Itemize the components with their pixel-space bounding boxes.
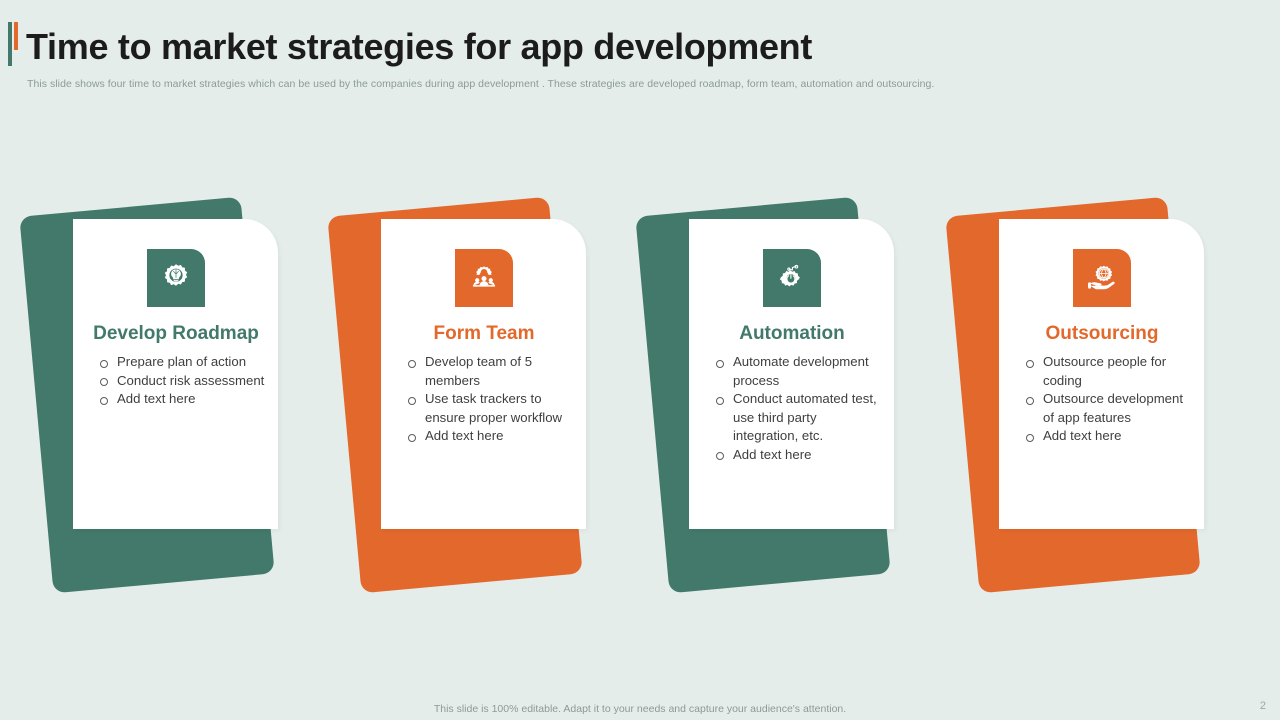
list-item: Automate development process bbox=[713, 353, 882, 390]
card-title: Outsourcing bbox=[1012, 323, 1192, 345]
list-item: Add text here bbox=[713, 446, 882, 465]
list-item: Develop team of 5 members bbox=[405, 353, 574, 390]
card-panel[interactable]: Form Team Develop team of 5 members Use … bbox=[381, 219, 586, 529]
list-item: Use task trackers to ensure proper workf… bbox=[405, 390, 574, 427]
card-panel[interactable]: Outsourcing Outsource people for coding … bbox=[999, 219, 1204, 529]
page-number: 2 bbox=[1260, 700, 1266, 712]
list-item: Add text here bbox=[405, 427, 574, 446]
card-title: Automation bbox=[702, 323, 882, 345]
card-title: Form Team bbox=[394, 323, 574, 345]
hand-holding-globe-gear-icon bbox=[1073, 249, 1131, 307]
strategy-card-develop-roadmap[interactable]: Develop Roadmap Prepare plan of action C… bbox=[22, 190, 322, 610]
card-bullet-list: Prepare plan of action Conduct risk asse… bbox=[86, 353, 266, 409]
list-item: Outsource development of app features bbox=[1023, 390, 1192, 427]
card-bullet-list: Outsource people for coding Outsource de… bbox=[1012, 353, 1192, 446]
card-bullet-list: Automate development process Conduct aut… bbox=[702, 353, 882, 465]
card-panel[interactable]: Develop Roadmap Prepare plan of action C… bbox=[73, 219, 278, 529]
strategy-card-form-team[interactable]: Form Team Develop team of 5 members Use … bbox=[330, 190, 630, 610]
strategy-cards-container: Develop Roadmap Prepare plan of action C… bbox=[0, 0, 1280, 720]
gear-automation-robot-icon bbox=[763, 249, 821, 307]
footer-note: This slide is 100% editable. Adapt it to… bbox=[0, 703, 1280, 715]
strategy-card-outsourcing[interactable]: Outsourcing Outsource people for coding … bbox=[948, 190, 1248, 610]
list-item: Conduct risk assessment bbox=[97, 372, 266, 391]
card-panel[interactable]: Automation Automate development process … bbox=[689, 219, 894, 529]
list-item: Add text here bbox=[97, 390, 266, 409]
card-title: Develop Roadmap bbox=[86, 323, 266, 345]
list-item: Conduct automated test, use third party … bbox=[713, 390, 882, 446]
list-item: Add text here bbox=[1023, 427, 1192, 446]
gear-lightbulb-idea-icon bbox=[147, 249, 205, 307]
card-bullet-list: Develop team of 5 members Use task track… bbox=[394, 353, 574, 446]
list-item: Outsource people for coding bbox=[1023, 353, 1192, 390]
list-item: Prepare plan of action bbox=[97, 353, 266, 372]
team-group-gear-icon bbox=[455, 249, 513, 307]
strategy-card-automation[interactable]: Automation Automate development process … bbox=[638, 190, 938, 610]
